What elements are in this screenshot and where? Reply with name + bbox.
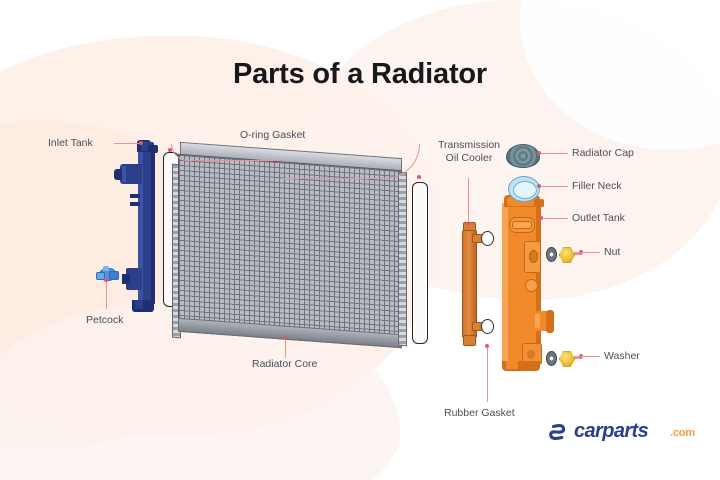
- label-transmission-oil-cooler-line2: Oil Cooler: [446, 152, 493, 164]
- leader-radiator-cap: [540, 153, 568, 154]
- part-radiator-core[interactable]: [178, 150, 410, 345]
- toc-fitting-bottom: [481, 319, 494, 334]
- leader-oring-left: [171, 144, 282, 161]
- leader-dot-inlet-tank: [139, 141, 143, 145]
- leader-rubber-gasket: [487, 346, 488, 402]
- leader-filler-neck: [540, 186, 568, 187]
- washer-icon: [546, 351, 557, 366]
- label-transmission-oil-cooler: Transmission Oil Cooler: [424, 139, 514, 164]
- leader-dot-radiator-cap: [537, 151, 541, 155]
- core-side-right: [398, 172, 407, 347]
- leader-dot-oring-left: [168, 148, 172, 152]
- part-filler-neck[interactable]: [508, 176, 540, 202]
- label-nut: Nut: [604, 246, 620, 258]
- leader-oring-right: [283, 144, 420, 179]
- label-washer: Washer: [604, 350, 640, 362]
- page-title: Parts of a Radiator: [0, 58, 720, 91]
- label-transmission-oil-cooler-line1: Transmission: [438, 139, 500, 151]
- filler-neck-inner-ring: [513, 181, 537, 199]
- leader-transmission-oil-cooler: [468, 178, 469, 226]
- label-outlet-tank: Outlet Tank: [572, 212, 625, 224]
- part-transmission-oil-cooler[interactable]: [462, 222, 476, 344]
- label-petcock: Petcock: [86, 314, 123, 326]
- part-nut-assembly[interactable]: [546, 246, 594, 264]
- part-inlet-tank[interactable]: [108, 140, 164, 312]
- part-washer-assembly[interactable]: [546, 350, 594, 368]
- core-fin-mesh: [178, 154, 402, 348]
- nut-washer-icon: [546, 247, 557, 262]
- swirl-icon: [548, 421, 570, 443]
- leader-dot-radiator-core: [283, 336, 287, 340]
- washer-nut-icon: [559, 351, 575, 367]
- leader-dot-filler-neck: [537, 184, 541, 188]
- toc-fitting-top: [481, 231, 494, 246]
- carparts-logo[interactable]: carparts .com: [548, 418, 698, 446]
- leader-dot-transmission-oil-cooler: [466, 222, 470, 226]
- logo-tld-text: .com: [670, 427, 695, 439]
- leader-dot-oring-right: [417, 175, 421, 179]
- label-inlet-tank: Inlet Tank: [48, 137, 93, 149]
- label-rubber-gasket: Rubber Gasket: [444, 407, 515, 419]
- label-oring-gasket: O-ring Gasket: [240, 129, 305, 141]
- nut-icon: [559, 247, 575, 263]
- part-oring-gasket-right[interactable]: [412, 182, 428, 344]
- label-radiator-core: Radiator Core: [252, 358, 317, 370]
- label-filler-neck: Filler Neck: [572, 180, 622, 192]
- leader-dot-petcock: [104, 278, 108, 282]
- diagram-canvas: Parts of a Radiator: [0, 0, 720, 480]
- leader-dot-outlet-tank: [539, 216, 543, 220]
- label-radiator-cap: Radiator Cap: [572, 147, 634, 159]
- logo-brand-text: carparts: [574, 420, 648, 443]
- leader-dot-rubber-gasket: [485, 344, 489, 348]
- part-outlet-tank[interactable]: [498, 193, 556, 371]
